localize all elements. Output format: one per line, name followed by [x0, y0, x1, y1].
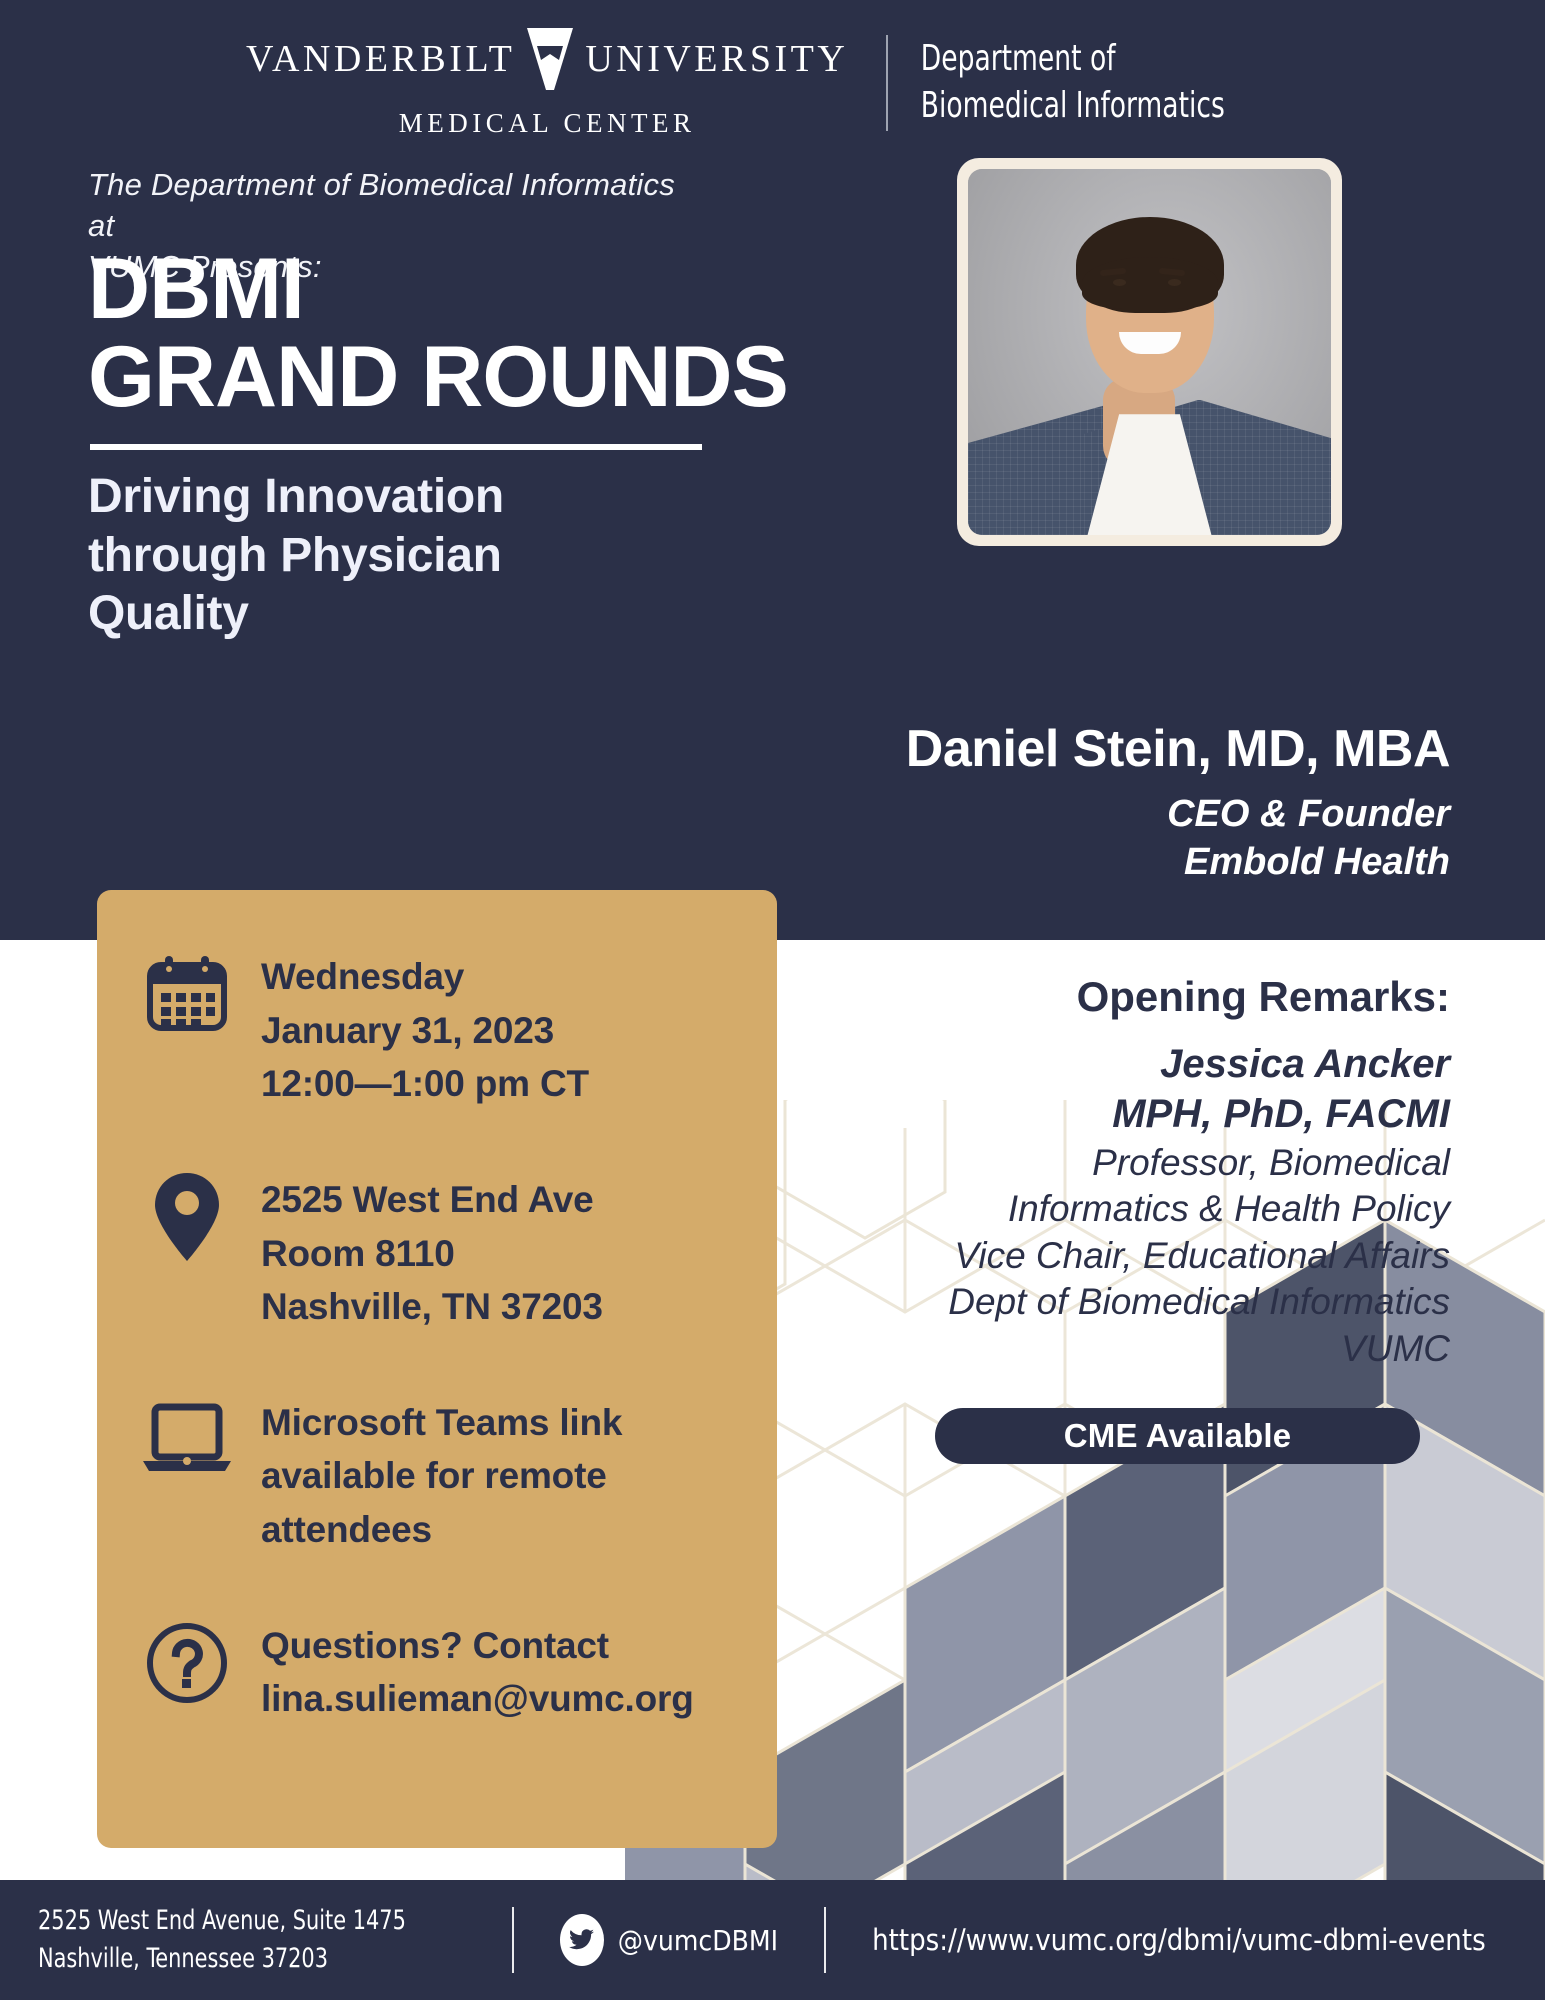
cme-available-badge: CME Available — [935, 1408, 1420, 1464]
detail-text-contact[interactable]: Questions? Contact lina.sulieman@vumc.or… — [261, 1615, 694, 1726]
opening-remarks-affiliation-4: Dept of Biomedical Informatics — [820, 1279, 1450, 1326]
logo-vanderbilt-text: VANDERBILT — [246, 40, 515, 78]
title-line-1: DBMI — [88, 246, 788, 334]
twitter-bird-icon[interactable] — [560, 1914, 604, 1966]
logo-university-text: UNIVERSITY — [585, 40, 848, 78]
detail-row-contact: Questions? Contact lina.sulieman@vumc.or… — [139, 1615, 737, 1726]
date-line-1: Wednesday — [261, 950, 589, 1004]
speaker-name: Daniel Stein, MD, MBA — [700, 722, 1450, 777]
flyer-page: VANDERBILT UNIVERSITY MEDICAL CENTER Dep… — [0, 0, 1545, 2000]
detail-row-teams: Microsoft Teams link available for remot… — [139, 1392, 737, 1557]
contact-email[interactable]: lina.sulieman@vumc.org — [261, 1672, 694, 1726]
teams-line-2: available for remote — [261, 1449, 622, 1503]
twitter-handle[interactable]: @vumcDBMI — [618, 1924, 778, 1957]
detail-text-date: Wednesday January 31, 2023 12:00—1:00 pm… — [261, 946, 589, 1111]
footer-events-url[interactable]: https://www.vumc.org/dbmi/vumc-dbmi-even… — [872, 1923, 1486, 1957]
map-pin-icon — [139, 1169, 235, 1265]
footer-divider-1 — [512, 1907, 514, 1973]
detail-text-location: 2525 West End Ave Room 8110 Nashville, T… — [261, 1169, 603, 1334]
talk-title-line-1: Driving Innovation — [88, 468, 708, 527]
vumc-logo-bar: VANDERBILT UNIVERSITY MEDICAL CENTER Dep… — [0, 26, 1545, 139]
speaker-headshot — [968, 169, 1331, 535]
department-line-2: Biomedical Informatics — [921, 83, 1225, 129]
location-line-3: Nashville, TN 37203 — [261, 1280, 603, 1334]
page-title: DBMI GRAND ROUNDS — [88, 246, 788, 421]
department-line-1: Department of — [921, 36, 1225, 82]
title-line-2: GRAND ROUNDS — [88, 334, 788, 422]
speaker-photo-frame — [957, 158, 1342, 546]
laptop-icon — [139, 1392, 235, 1488]
footer-address-line-1: 2525 West End Avenue, Suite 1475 — [38, 1902, 406, 1940]
talk-title-line-3: Quality — [88, 585, 708, 644]
date-line-2: January 31, 2023 — [261, 1004, 589, 1058]
speaker-role: CEO & Founder Embold Health — [700, 790, 1450, 887]
date-line-3: 12:00—1:00 pm CT — [261, 1057, 589, 1111]
location-line-1: 2525 West End Ave — [261, 1173, 603, 1227]
speaker-role-line-2: Embold Health — [700, 838, 1450, 886]
detail-text-teams: Microsoft Teams link available for remot… — [261, 1392, 622, 1557]
calendar-icon — [139, 946, 235, 1042]
contact-line-1: Questions? Contact — [261, 1619, 694, 1673]
logo-medical-center-text: MEDICAL CENTER — [246, 108, 848, 139]
speaker-role-line-1: CEO & Founder — [700, 790, 1450, 838]
title-divider-rule — [90, 444, 702, 450]
teams-line-3: attendees — [261, 1503, 622, 1557]
event-details-card: Wednesday January 31, 2023 12:00—1:00 pm… — [97, 890, 777, 1848]
department-lockup: Department of Biomedical Informatics — [888, 36, 1225, 128]
talk-title-line-2: through Physician — [88, 527, 708, 586]
opening-remarks-block: Opening Remarks: Jessica Ancker MPH, PhD… — [820, 972, 1450, 1373]
footer-address-line-2: Nashville, Tennessee 37203 — [38, 1940, 406, 1978]
footer-address: 2525 West End Avenue, Suite 1475 Nashvil… — [38, 1902, 406, 1979]
opening-remarks-heading: Opening Remarks: — [820, 972, 1450, 1022]
footer-twitter[interactable]: @vumcDBMI — [560, 1914, 778, 1966]
opening-remarks-affiliation-1: Professor, Biomedical — [820, 1140, 1450, 1187]
opening-remarks-affiliation-5: VUMC — [820, 1326, 1450, 1373]
opening-remarks-affiliation-2: Informatics & Health Policy — [820, 1186, 1450, 1233]
opening-remarks-credentials: MPH, PhD, FACMI — [820, 1090, 1450, 1140]
detail-row-location: 2525 West End Ave Room 8110 Nashville, T… — [139, 1169, 737, 1334]
footer-divider-2 — [824, 1907, 826, 1973]
question-mark-circle-icon — [139, 1615, 235, 1711]
location-line-2: Room 8110 — [261, 1227, 603, 1281]
footer-bar: 2525 West End Avenue, Suite 1475 Nashvil… — [0, 1880, 1545, 2000]
opening-remarks-name: Jessica Ancker — [820, 1040, 1450, 1090]
vanderbilt-v-icon — [523, 26, 577, 92]
vanderbilt-logo: VANDERBILT UNIVERSITY MEDICAL CENTER — [246, 26, 886, 139]
opening-remarks-affiliation-3: Vice Chair, Educational Affairs — [820, 1233, 1450, 1280]
talk-title: Driving Innovation through Physician Qua… — [88, 468, 708, 644]
teams-line-1: Microsoft Teams link — [261, 1396, 622, 1450]
detail-row-date: Wednesday January 31, 2023 12:00—1:00 pm… — [139, 946, 737, 1111]
presents-line-1: The Department of Biomedical Informatics… — [88, 164, 708, 246]
